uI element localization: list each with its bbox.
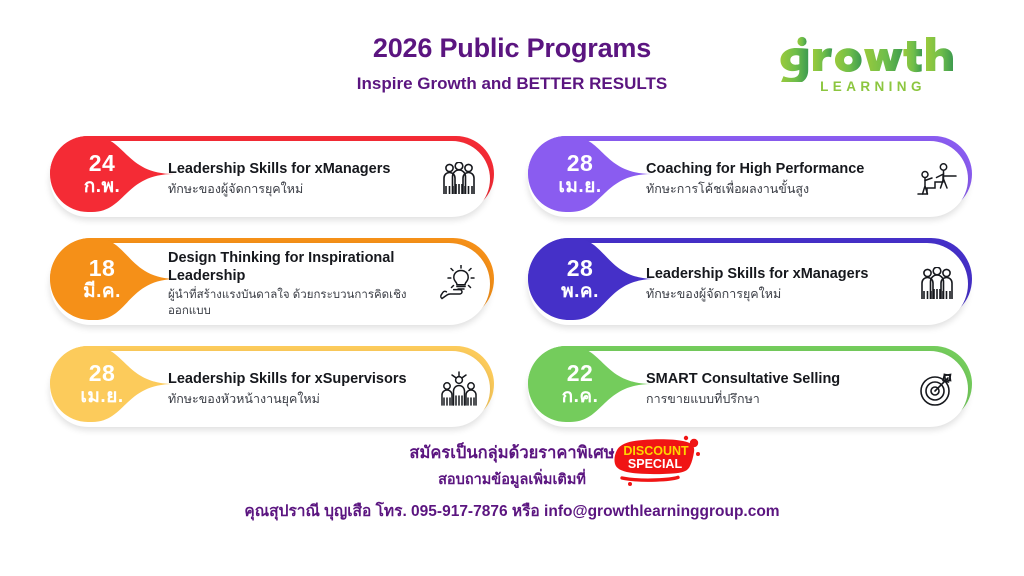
card-body: Leadership Skills for xManagers ทักษะของ…: [646, 243, 914, 325]
card-title: Leadership Skills for xSupervisors: [168, 370, 436, 389]
card-date: 28 เม.ย.: [528, 136, 632, 212]
badge-line-1: DISCOUNT: [623, 444, 689, 458]
card-subtitle: ทักษะของหัวหน้างานยุคใหม่: [168, 391, 436, 408]
card-body: Coaching for High Performance ทักษะการโค…: [646, 141, 914, 217]
card-body: Leadership Skills for xManagers ทักษะของ…: [168, 141, 436, 217]
brand-logo: LEARNING: [776, 36, 966, 102]
group-discount-text: สมัครเป็นกลุ่มด้วยราคาพิเศษ: [409, 444, 614, 462]
coaching-steps-icon: [914, 141, 960, 217]
card-date-month: เม.ย.: [80, 387, 123, 407]
card-date-month: เม.ย.: [558, 177, 601, 197]
card-body: Design Thinking for Inspirational Leader…: [168, 243, 432, 325]
program-card[interactable]: 18 มี.ค. Design Thinking for Inspiration…: [50, 238, 494, 320]
card-date: 22 ก.ค.: [528, 346, 632, 422]
program-card[interactable]: 28 เม.ย. Coaching for High Performance ท…: [528, 136, 972, 212]
card-subtitle: ทักษะของผู้จัดการยุคใหม่: [646, 286, 914, 303]
card-date-month: พ.ค.: [561, 282, 599, 302]
program-card[interactable]: 28 เม.ย. Leadership Skills for xSupervis…: [50, 346, 494, 422]
card-date-month: ก.ค.: [562, 387, 599, 407]
hand-lightbulb-icon: [436, 243, 482, 325]
card-date: 18 มี.ค.: [50, 238, 154, 320]
footer: สมัครเป็นกลุ่มด้วยราคาพิเศษ สอบถามข้อมูล…: [0, 444, 1024, 520]
card-date-month: มี.ค.: [83, 282, 121, 302]
card-body: SMART Consultative Selling การขายแบบที่ป…: [646, 351, 914, 427]
target-dart-icon: [914, 351, 960, 427]
card-date-day: 22: [567, 361, 594, 385]
program-card[interactable]: 24 ก.พ. Leadership Skills for xManagers …: [50, 136, 494, 212]
team-leader-icon: [436, 351, 482, 427]
group-people-icon: [436, 141, 482, 217]
badge-brush-icon: DISCOUNT SPECIAL: [608, 434, 704, 488]
logo-tagline: LEARNING: [776, 79, 970, 94]
card-date-day: 28: [89, 361, 116, 385]
badge-line-2: SPECIAL: [628, 457, 683, 471]
card-subtitle: ทักษะการโค้ชเพื่อผลงานขั้นสูง: [646, 181, 914, 198]
card-date-day: 24: [89, 151, 116, 175]
card-date-day: 28: [567, 256, 594, 280]
group-people-icon: [914, 243, 960, 325]
growth-wordmark-icon: [776, 36, 966, 82]
card-title: Leadership Skills for xManagers: [646, 265, 914, 284]
program-card[interactable]: 22 ก.ค. SMART Consultative Selling การขา…: [528, 346, 972, 422]
card-date-day: 28: [567, 151, 594, 175]
card-date: 28 เม.ย.: [50, 346, 154, 422]
poster-canvas: 2026 Public Programs Inspire Growth and …: [0, 0, 1024, 576]
card-subtitle: การขายแบบที่ปรึกษา: [646, 391, 914, 408]
card-date: 28 พ.ค.: [528, 238, 632, 320]
footer-line-1-wrap: สมัครเป็นกลุ่มด้วยราคาพิเศษ: [0, 444, 1024, 463]
card-date: 24 ก.พ.: [50, 136, 154, 212]
card-title: Design Thinking for Inspirational Leader…: [168, 249, 413, 286]
discount-special-badge: DISCOUNT SPECIAL: [608, 434, 704, 488]
card-title: Coaching for High Performance: [646, 160, 914, 179]
card-title: Leadership Skills for xManagers: [168, 160, 436, 179]
program-card[interactable]: 28 พ.ค. Leadership Skills for xManagers …: [528, 238, 972, 320]
card-subtitle: ทักษะของผู้จัดการยุคใหม่: [168, 181, 436, 198]
cards-column-right: 28 เม.ย. Coaching for High Performance ท…: [528, 136, 972, 448]
more-info-text: สอบถามข้อมูลเพิ่มเติมที่: [0, 473, 1024, 489]
card-subtitle: ผู้นำที่สร้างแรงบันดาลใจ ด้วยกระบวนการคิ…: [168, 288, 432, 319]
contact-text[interactable]: คุณสุปราณี บุญเสือ โทร. 095-917-7876 หรื…: [0, 503, 1024, 520]
card-body: Leadership Skills for xSupervisors ทักษะ…: [168, 351, 436, 427]
card-date-month: ก.พ.: [84, 177, 121, 197]
card-title: SMART Consultative Selling: [646, 370, 914, 389]
card-date-day: 18: [89, 256, 116, 280]
cards-column-left: 24 ก.พ. Leadership Skills for xManagers …: [50, 136, 494, 448]
